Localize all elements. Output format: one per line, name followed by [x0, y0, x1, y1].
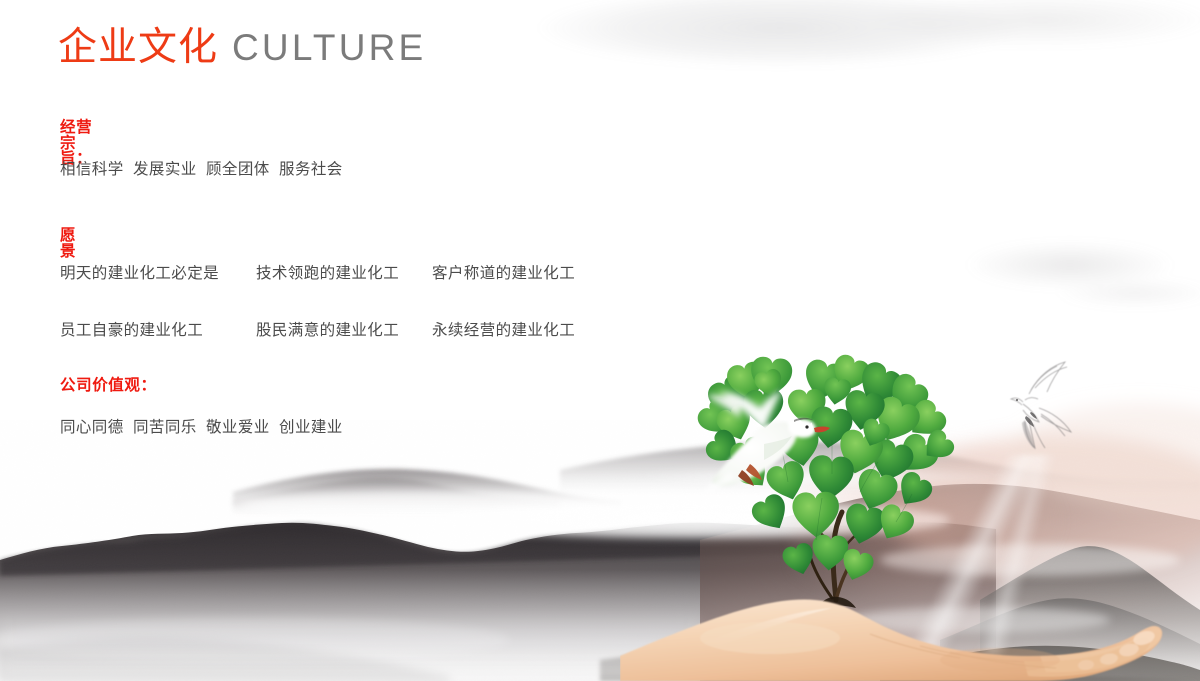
purpose-heading: 经营宗旨：	[60, 120, 92, 167]
vision-item: 永续经营的建业化工	[432, 323, 575, 339]
right-mist-band	[940, 175, 1200, 355]
vision-item: 客户称道的建业化工	[432, 266, 575, 282]
top-mist-wash	[520, 0, 1200, 90]
vision-item: 明天的建业化工必定是	[60, 266, 256, 282]
vision-item: 股民满意的建业化工	[256, 323, 432, 339]
fog-band-mid	[560, 455, 1080, 499]
title-english: CULTURE	[232, 29, 426, 66]
vision-heading: 愿景	[60, 228, 76, 259]
page-title: 企业文化 CULTURE	[58, 28, 426, 67]
vision-grid: 明天的建业化工必定是 技术领跑的建业化工 客户称道的建业化工 员工自豪的建业化工…	[60, 266, 575, 338]
culture-slide: 企业文化 CULTURE 经营宗旨： 相信科学 发展实业 顾全团体 服务社会 愿…	[0, 0, 1200, 681]
vision-item: 技术领跑的建业化工	[256, 266, 432, 282]
fog-band-lower	[0, 610, 700, 681]
title-chinese: 企业文化	[58, 28, 218, 67]
values-heading: 公司价值观：	[60, 378, 157, 394]
values-body: 同心同德 同苦同乐 敬业爱业 创业建业	[60, 420, 343, 436]
purpose-body: 相信科学 发展实业 顾全团体 服务社会	[60, 162, 343, 178]
vision-item: 员工自豪的建业化工	[60, 323, 256, 339]
